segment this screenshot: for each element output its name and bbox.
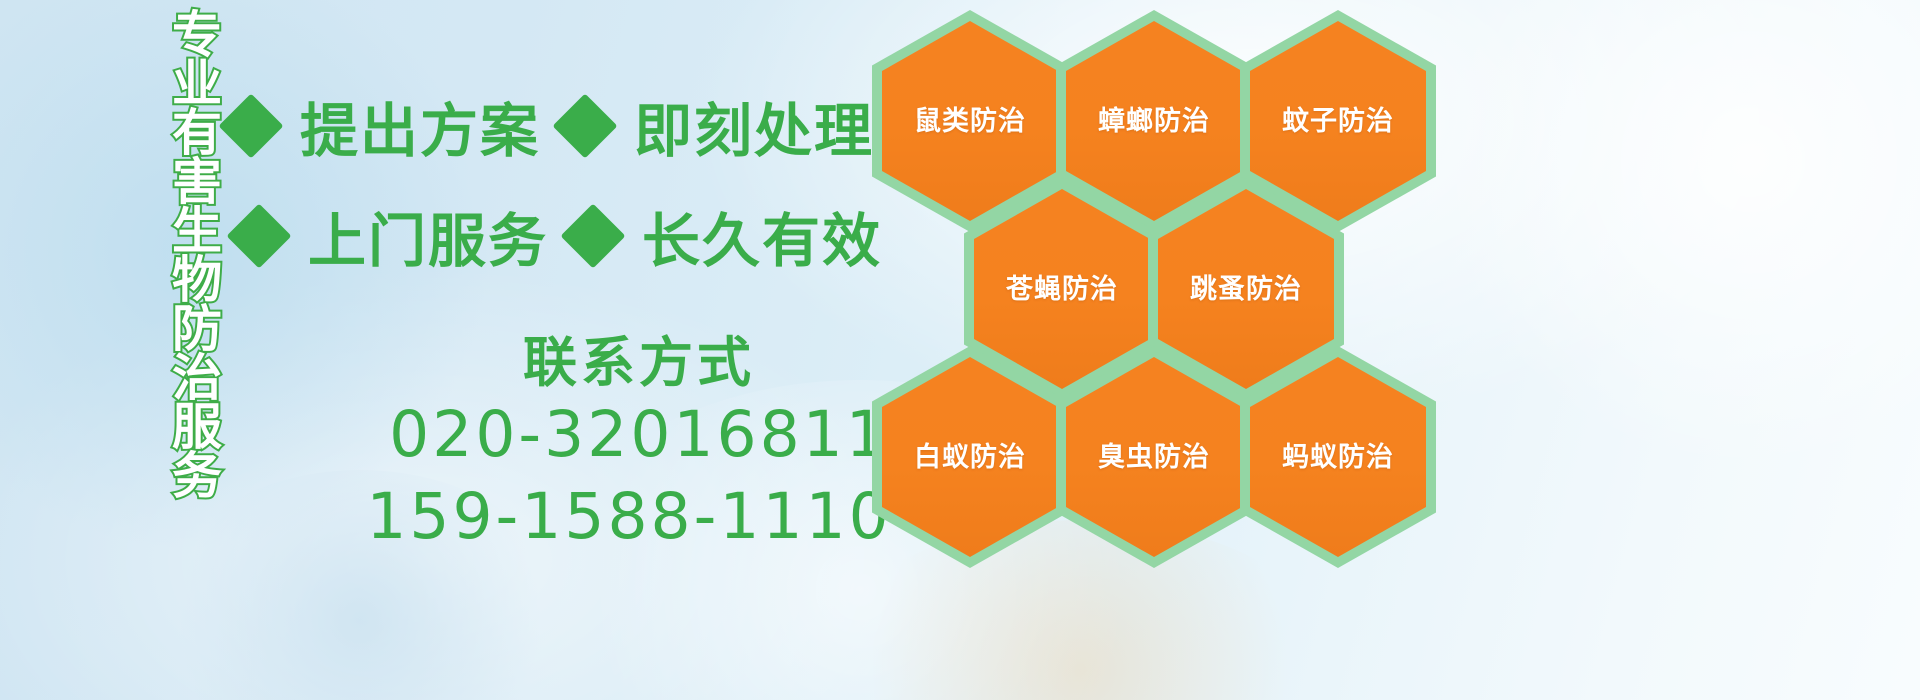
service-hexagon-face: 白蚁防治 [882, 357, 1058, 557]
service-hexagon-face: 臭虫防治 [1066, 357, 1242, 557]
promo-banner: 专业有害生物防治服务 提出方案 即刻处理 上门服务 长久有效 联系方式 020-… [0, 0, 1920, 700]
service-hexagon-face: 苍蝇防治 [974, 189, 1150, 389]
service-hexagon-face: 鼠类防治 [882, 21, 1058, 221]
service-hexagon-face: 蟑螂防治 [1066, 21, 1242, 221]
service-hexagon-face: 蚊子防治 [1250, 21, 1426, 221]
service-hexagon-label: 蚂蚁防治 [1282, 444, 1394, 471]
service-hexagon-face: 蚂蚁防治 [1250, 357, 1426, 557]
service-hexagon-label: 白蚁防治 [914, 444, 1026, 471]
service-hexagon-grid: 鼠类防治蟑螂防治蚊子防治苍蝇防治跳蚤防治白蚁防治臭虫防治蚂蚁防治 [0, 0, 1920, 700]
service-hexagon-face: 跳蚤防治 [1158, 189, 1334, 389]
service-hexagon-label: 蟑螂防治 [1098, 108, 1210, 135]
service-hexagon-label: 跳蚤防治 [1190, 276, 1302, 303]
service-hexagon-label: 蚊子防治 [1282, 108, 1394, 135]
service-hexagon-label: 鼠类防治 [914, 108, 1026, 135]
service-hexagon-label: 臭虫防治 [1098, 444, 1210, 471]
service-hexagon-label: 苍蝇防治 [1006, 276, 1118, 303]
